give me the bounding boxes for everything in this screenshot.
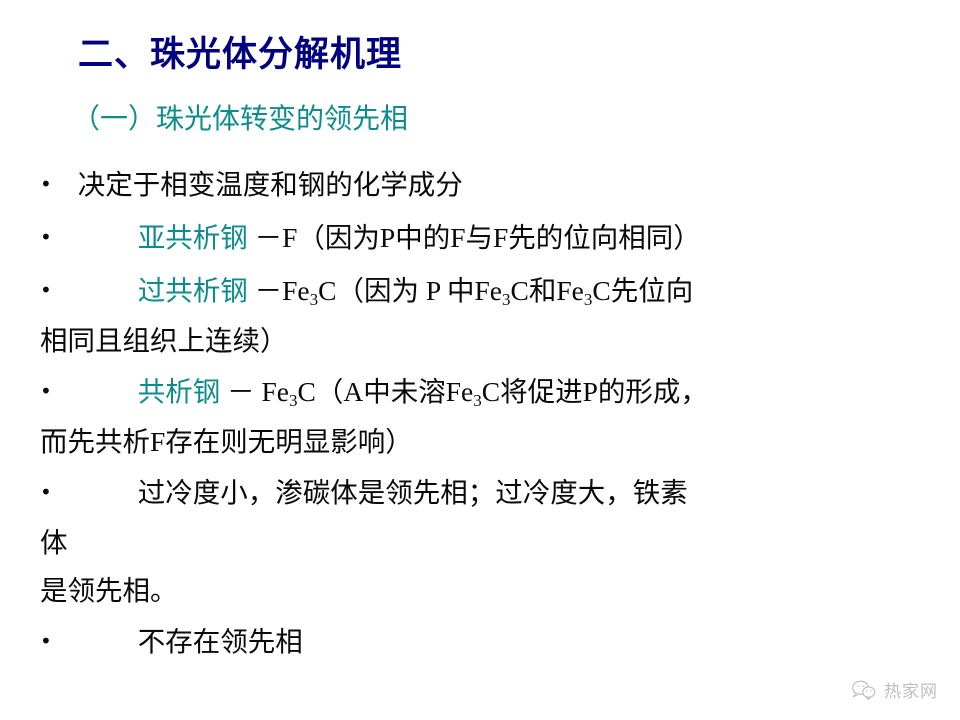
wechat-icon [851, 679, 877, 701]
slide-body: • 决定于相变温度和钢的化学成分 • 亚共析钢 －F（因为P中的F与F先的位向相… [40, 158, 940, 668]
bullet-item-6: • 不存在领先相 [40, 615, 940, 668]
bullet-line: • 不存在领先相 [40, 615, 940, 668]
term-eutectoid-steel: 共析钢 [138, 376, 221, 407]
formula-part-a: －Fe [255, 275, 310, 306]
page-title: 二、珠光体分解机理 [78, 36, 402, 75]
bullet-text-5-cont-b: 是领先相。 [40, 575, 178, 606]
bullet-continuation-line: 相同且组织上连续） [40, 317, 940, 365]
bullet-text-5-cont-a: 体 [40, 527, 68, 558]
bullet-line: • 过共析钢 －Fe3C（因为 P 中Fe3C和Fe3C先位向 [40, 264, 940, 317]
bullet-item-4: • 共析钢 － Fe3C（A中未溶Fe3C将促进P的形成， 而先共析F存在则无明… [40, 365, 940, 466]
subscript-3: 3 [289, 391, 298, 410]
formula-part-c: C将促进P的形成， [482, 376, 708, 407]
bullet-item-1: • 决定于相变温度和钢的化学成分 [40, 158, 940, 211]
bullet-text-5: 过冷度小，渗碳体是领先相；过冷度大，铁素 [138, 477, 688, 508]
subscript-3: 3 [310, 290, 319, 309]
bullet-item-5: • 过冷度小，渗碳体是领先相；过冷度大，铁素 体 是领先相。 [40, 466, 940, 615]
bullet-item-2: • 亚共析钢 －F（因为P中的F与F先的位向相同） [40, 211, 940, 264]
bullet-continuation-line: 而先共析F存在则无明显影响） [40, 418, 940, 466]
bullet-line: • 过冷度小，渗碳体是领先相；过冷度大，铁素 [40, 466, 940, 519]
bullet-continuation-line: 体 [40, 519, 940, 567]
slide-canvas: 二、珠光体分解机理 （一）珠光体转变的领先相 • 决定于相变温度和钢的化学成分 … [0, 0, 960, 720]
formula-part-c: C和Fe [511, 275, 584, 306]
bullet-marker-icon: • [40, 466, 50, 519]
bullet-text-3-cont: 相同且组织上连续） [40, 325, 288, 356]
formula-part-b: C（A中未溶Fe [298, 376, 474, 407]
bullet-text-6: 不存在领先相 [138, 626, 303, 657]
bullet-line: • 决定于相变温度和钢的化学成分 [40, 158, 940, 211]
bullet-marker-icon: • [40, 264, 50, 317]
term-hypereutectoid-steel: 过共析钢 [138, 275, 248, 306]
bullet-item-3: • 过共析钢 －Fe3C（因为 P 中Fe3C和Fe3C先位向 相同且组织上连续… [40, 264, 940, 365]
watermark-label: 热家网 [884, 677, 938, 702]
bullet-marker-icon: • [40, 158, 50, 211]
bullet-line: • 亚共析钢 －F（因为P中的F与F先的位向相同） [40, 211, 940, 264]
bullet-line: • 共析钢 － Fe3C（A中未溶Fe3C将促进P的形成， [40, 365, 940, 418]
bullet-text-4-cont: 而先共析F存在则无明显影响） [40, 426, 413, 457]
bullet-marker-icon: • [40, 615, 50, 668]
bullet-text-2: －F（因为P中的F与F先的位向相同） [255, 222, 701, 253]
bullet-marker-icon: • [40, 211, 50, 264]
formula-part-b: C（因为 P 中Fe [318, 275, 502, 306]
formula-part-a: － Fe [227, 376, 289, 407]
formula-part-d: C先位向 [592, 275, 693, 306]
bullet-text-1: 决定于相变温度和钢的化学成分 [78, 169, 463, 200]
section-subtitle: （一）珠光体转变的领先相 [72, 104, 408, 136]
subscript-3: 3 [473, 391, 482, 410]
bullet-continuation-line: 是领先相。 [40, 567, 940, 615]
bullet-marker-icon: • [40, 365, 50, 418]
watermark: 热家网 [851, 677, 938, 702]
term-hypoeutectoid-steel: 亚共析钢 [138, 222, 248, 253]
subscript-3: 3 [502, 290, 511, 309]
